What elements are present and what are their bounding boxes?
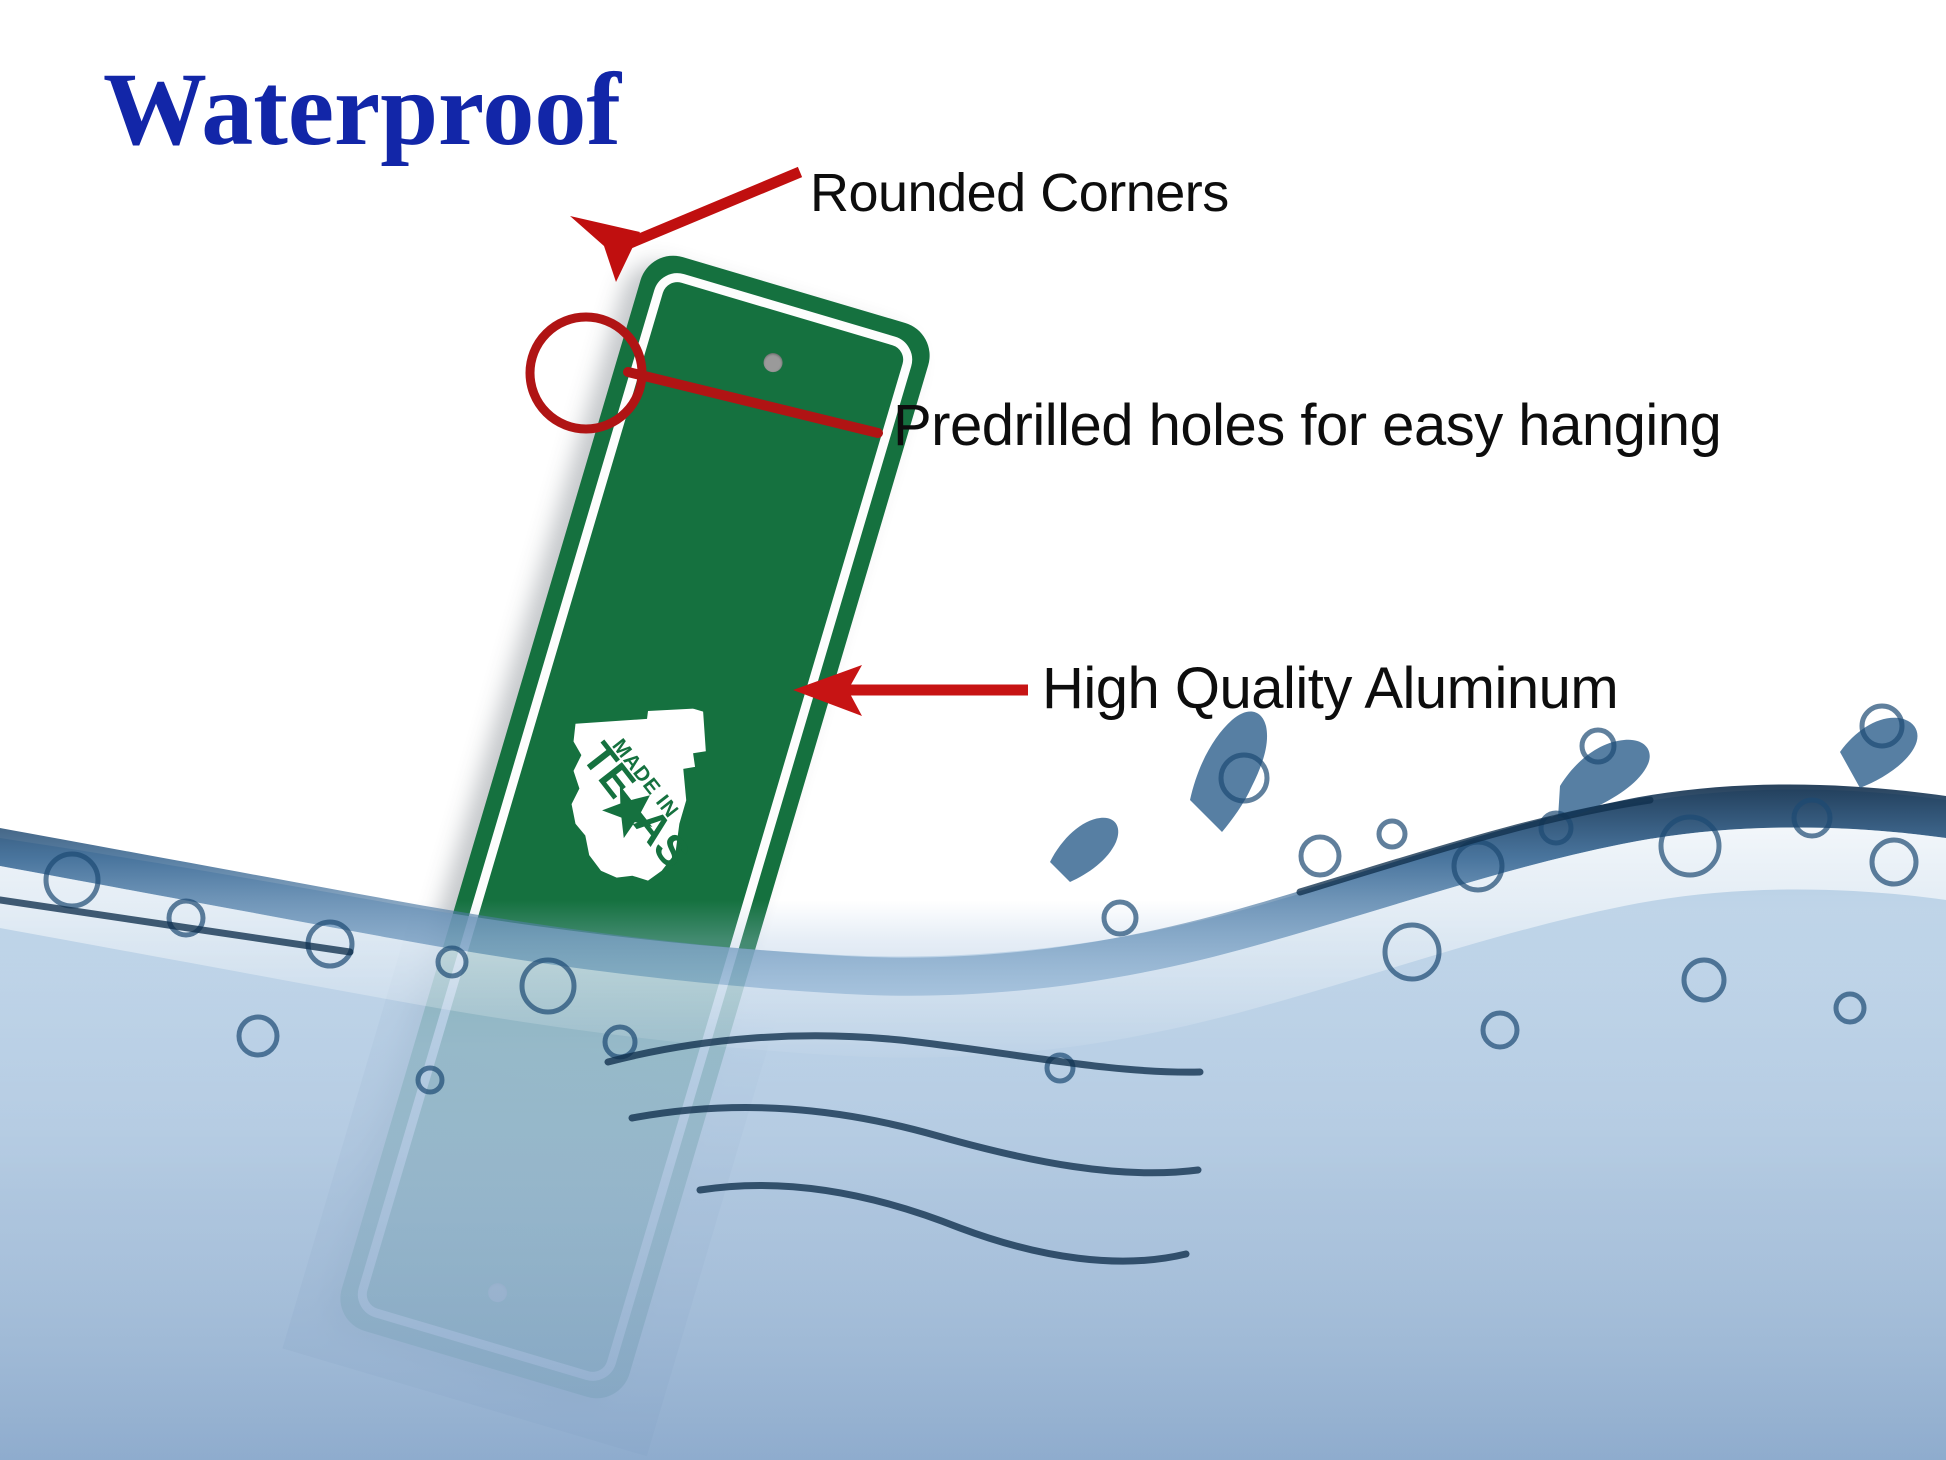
annotation-label-rounded-corners: Rounded Corners	[810, 162, 1229, 224]
annotation-label-high-quality-aluminum: High Quality Aluminum	[1042, 655, 1618, 722]
sign-face: MADE IN TE AS	[332, 247, 938, 1406]
annotation-label-predrilled-holes: Predrilled holes for easy hanging	[893, 392, 1721, 459]
product-feature-callout-image: MADE IN TE AS	[0, 0, 1946, 1460]
water-splash-crowns	[1050, 711, 1917, 882]
page-title: Waterproof	[103, 58, 621, 162]
